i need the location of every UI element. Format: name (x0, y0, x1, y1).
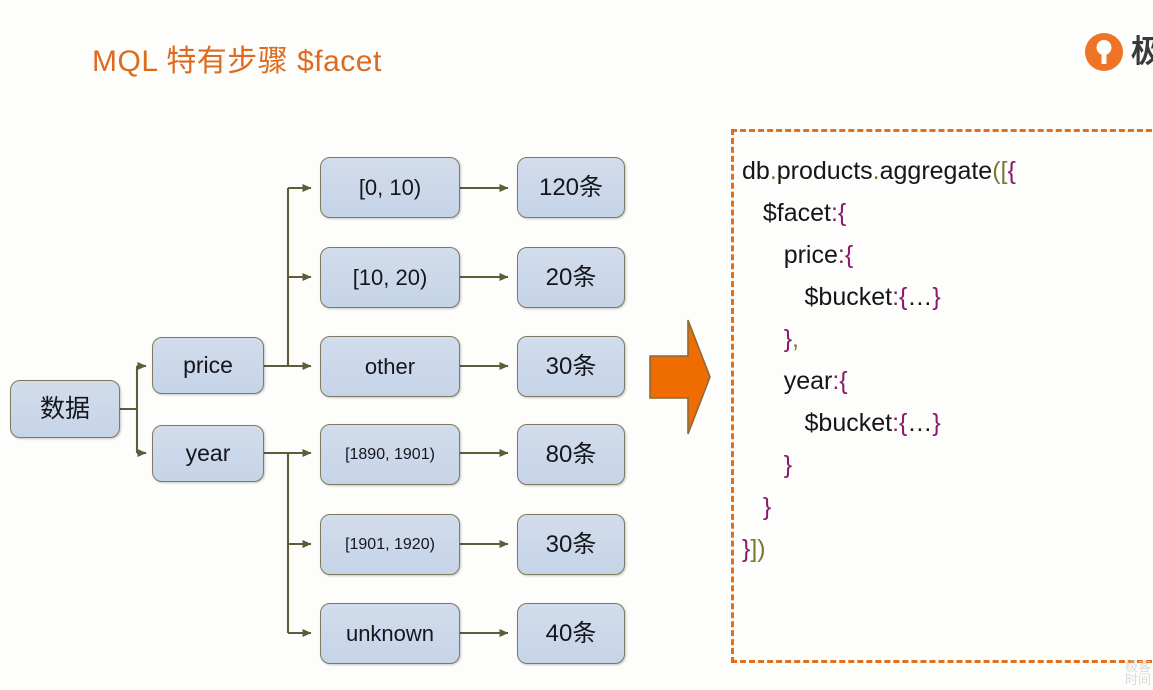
facet-flow-diagram: 数据 price year [0, 10) [10, 20) other [18… (0, 0, 712, 690)
code-line: price:{ (742, 234, 1153, 276)
count-node[interactable]: 20条 (517, 247, 625, 308)
code-line: }, (742, 318, 1153, 360)
code-token: } (784, 451, 792, 479)
count-node[interactable]: 120条 (517, 157, 625, 218)
code-token: , (792, 325, 799, 353)
bucket-node[interactable]: [1901, 1920) (320, 514, 460, 575)
bucket-node[interactable]: other (320, 336, 460, 397)
code-token: … (907, 283, 932, 311)
bucket-label: [1901, 1920) (345, 537, 435, 553)
bucket-label: [0, 10) (359, 177, 421, 199)
count-node[interactable]: 30条 (517, 514, 625, 575)
code-token: . (873, 157, 880, 185)
code-token: year (784, 367, 833, 395)
code-token: $bucket (805, 409, 893, 437)
code-line: $bucket:{…} (742, 402, 1153, 444)
geekbang-logo-icon (1085, 33, 1123, 71)
code-token: aggregate (880, 157, 993, 185)
code-token: :{ (892, 283, 907, 311)
bucket-label: [10, 20) (353, 267, 428, 289)
code-line: year:{ (742, 360, 1153, 402)
data-node[interactable]: 数据 (10, 380, 120, 438)
bucket-node[interactable]: [0, 10) (320, 157, 460, 218)
code-token: :{ (892, 409, 907, 437)
count-node[interactable]: 30条 (517, 336, 625, 397)
code-snippet-panel: db.products.aggregate([{ $facet:{ price:… (731, 129, 1153, 663)
code-token: $bucket (805, 283, 893, 311)
transform-arrow-icon (648, 318, 712, 436)
bucket-node[interactable]: [1890, 1901) (320, 424, 460, 485)
bucket-node[interactable]: [10, 20) (320, 247, 460, 308)
code-token: } (932, 409, 940, 437)
count-node[interactable]: 80条 (517, 424, 625, 485)
brand-name-label: 极 (1131, 33, 1153, 71)
code-block[interactable]: db.products.aggregate([{ $facet:{ price:… (742, 150, 1153, 570)
watermark: 极客 时间 (1125, 660, 1151, 686)
count-label: 80条 (546, 443, 597, 467)
bucket-label: [1890, 1901) (345, 447, 435, 463)
facet-node-price[interactable]: price (152, 337, 264, 394)
count-label: 30条 (546, 355, 597, 379)
facet-node-year[interactable]: year (152, 425, 264, 482)
code-token: :{ (838, 241, 853, 269)
code-token: db (742, 157, 770, 185)
code-line: db.products.aggregate([{ (742, 150, 1153, 192)
code-token: } (763, 493, 771, 521)
code-token (742, 493, 763, 521)
code-token: ]) (750, 535, 765, 563)
code-token (742, 241, 784, 269)
code-token (742, 367, 784, 395)
brand-logo: 极 (1085, 33, 1153, 71)
code-token (742, 451, 784, 479)
code-token: } (784, 325, 792, 353)
facet-node-year-label: year (186, 442, 231, 465)
code-token: ([ (992, 157, 1007, 185)
code-token: . (770, 157, 777, 185)
code-token: … (907, 409, 932, 437)
code-token: :{ (831, 199, 846, 227)
code-token: products (777, 157, 873, 185)
count-label: 20条 (546, 266, 597, 290)
count-node[interactable]: 40条 (517, 603, 625, 664)
count-label: 30条 (546, 533, 597, 557)
code-token (742, 199, 763, 227)
code-line: $bucket:{…} (742, 276, 1153, 318)
code-token (742, 325, 784, 353)
code-token: } (932, 283, 940, 311)
count-label: 120条 (539, 176, 603, 200)
bucket-label: other (365, 356, 415, 378)
code-token: :{ (832, 367, 847, 395)
code-line: } (742, 444, 1153, 486)
data-node-label: 数据 (40, 397, 90, 422)
count-label: 40条 (546, 622, 597, 646)
code-line: }]) (742, 528, 1153, 570)
bucket-label: unknown (346, 623, 434, 645)
code-token: { (1008, 157, 1016, 185)
code-token (742, 283, 805, 311)
code-token: price (784, 241, 838, 269)
watermark-line-2: 时间 (1125, 673, 1151, 686)
code-token (742, 409, 805, 437)
bucket-node[interactable]: unknown (320, 603, 460, 664)
code-token: $facet (763, 199, 831, 227)
code-line: } (742, 486, 1153, 528)
code-line: $facet:{ (742, 192, 1153, 234)
facet-node-price-label: price (183, 354, 233, 377)
